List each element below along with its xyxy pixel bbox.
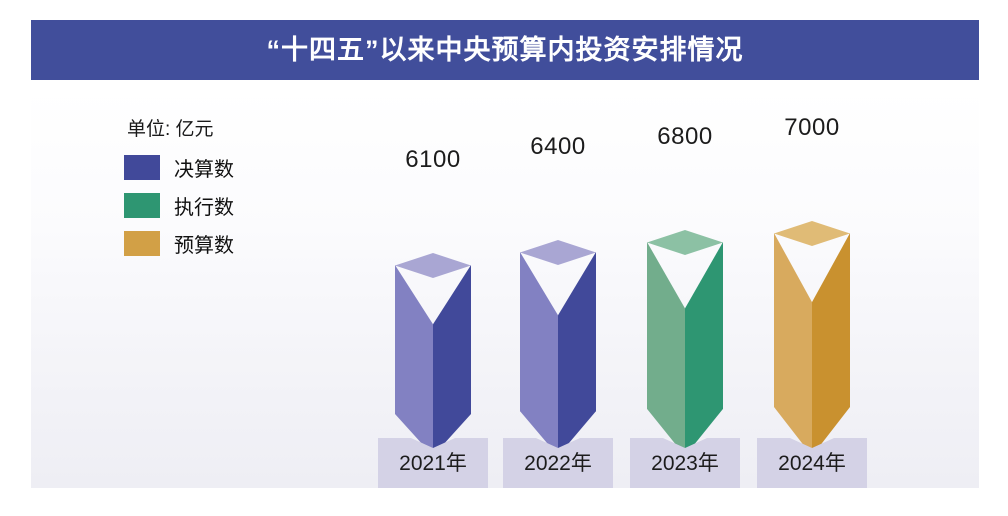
axis-label: 2024年 [778, 447, 846, 488]
plot-area: 6100 2021年 6400 2022年 [31, 88, 979, 488]
bar-group: 6800 2023年 [630, 88, 740, 488]
bar-group: 6400 2022年 [503, 88, 613, 488]
bar-face-left [647, 242, 685, 456]
page-title: “十四五”以来中央预算内投资安排情况 [267, 37, 744, 64]
bar-column-3d [774, 221, 850, 456]
bar-face-top [647, 230, 723, 256]
bar-face-top [774, 221, 850, 247]
bar-face-left [395, 265, 433, 456]
bar-face-top [520, 240, 596, 266]
bar-value-label: 6400 [503, 133, 613, 161]
bar-face-right [812, 233, 850, 456]
infographic-root: “十四五”以来中央预算内投资安排情况 单位: 亿元 决算数 执行数 预算数 [0, 0, 1008, 516]
bar-column-3d [647, 230, 723, 456]
axis-label: 2023年 [651, 447, 719, 488]
bar-column-3d [395, 253, 471, 456]
bar-column-3d [520, 240, 596, 456]
bar-value-label: 6800 [630, 123, 740, 151]
bar-value-label: 7000 [757, 114, 867, 142]
bar-face-right [433, 265, 471, 456]
bar-group: 7000 2024年 [757, 88, 867, 488]
bar-face-right [685, 242, 723, 456]
header-banner: “十四五”以来中央预算内投资安排情况 [31, 20, 979, 80]
bar-face-right [558, 252, 596, 456]
bar-value-label: 6100 [378, 146, 488, 174]
bar-face-left [774, 233, 812, 456]
axis-label: 2021年 [399, 447, 467, 488]
axis-label: 2022年 [524, 447, 592, 488]
bar-face-top [395, 253, 471, 279]
bar-face-left [520, 252, 558, 456]
chart-panel: 单位: 亿元 决算数 执行数 预算数 6100 [31, 88, 979, 488]
bar-group: 6100 2021年 [378, 88, 488, 488]
